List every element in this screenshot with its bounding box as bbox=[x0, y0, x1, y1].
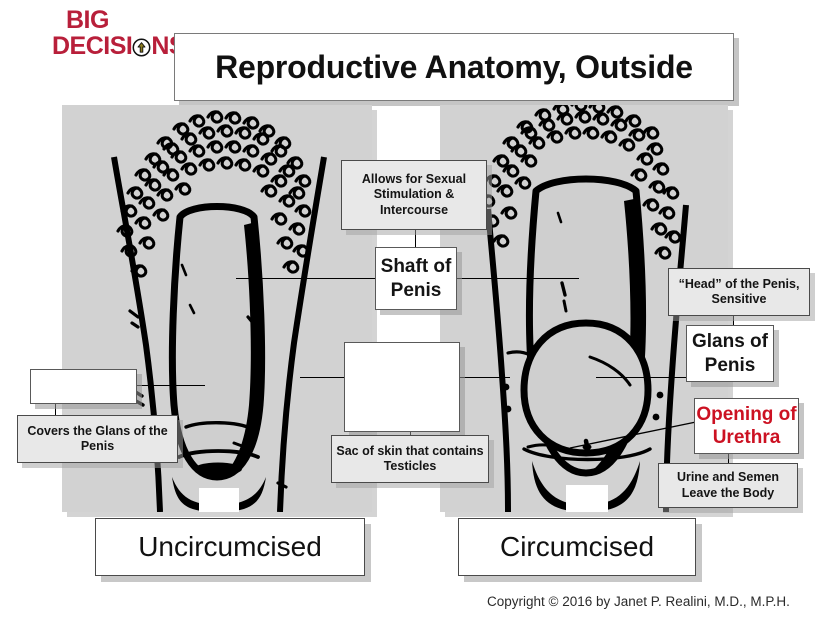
caption-circumcised-text: Circumcised bbox=[500, 531, 654, 563]
page-title-box: Reproductive Anatomy, Outside bbox=[174, 33, 734, 101]
leader-shaft-right bbox=[457, 278, 579, 279]
leader-shaft-left bbox=[236, 278, 376, 279]
label-allows-sexual-stimulation-text: Allows for Sexual Stimulation & Intercou… bbox=[342, 172, 486, 218]
label-sac-of-skin-testicles: Sac of skin that contains Testicles bbox=[331, 435, 489, 483]
label-opening-of-urethra: Opening of Urethra bbox=[694, 398, 799, 454]
logo-line-big: BIG bbox=[66, 8, 109, 33]
label-glans-of-penis: Glans of Penis bbox=[686, 325, 774, 382]
circled-up-arrow-icon bbox=[132, 37, 151, 56]
leader-scrotum-right bbox=[460, 377, 510, 378]
caption-uncircumcised-text: Uncircumcised bbox=[138, 531, 322, 563]
logo-line-decisions: DECISI NS bbox=[52, 34, 185, 59]
label-opening-of-urethra-text: Opening of Urethra bbox=[695, 403, 798, 449]
label-head-of-penis-sensitive-text: “Head” of the Penis, Sensitive bbox=[669, 277, 809, 308]
label-covers-glans-text: Covers the Glans of the Penis bbox=[18, 424, 177, 455]
label-head-of-penis-sensitive: “Head” of the Penis, Sensitive bbox=[668, 268, 810, 316]
label-covers-glans: Covers the Glans of the Penis bbox=[17, 415, 178, 463]
leader-foreskin bbox=[137, 385, 205, 386]
label-urine-semen-leave-body: Urine and Semen Leave the Body bbox=[658, 463, 798, 508]
leader-stimulation-to-shaft bbox=[415, 230, 416, 248]
answer-blank-scrotum[interactable] bbox=[344, 342, 460, 432]
leader-scrotum-left bbox=[300, 377, 345, 378]
label-allows-sexual-stimulation: Allows for Sexual Stimulation & Intercou… bbox=[341, 160, 487, 230]
big-decisions-logo: BIG DECISI NS bbox=[52, 8, 182, 70]
leader-glans bbox=[596, 377, 688, 378]
logo-text-decisi: DECISI bbox=[52, 32, 132, 60]
label-urine-semen-leave-body-text: Urine and Semen Leave the Body bbox=[659, 470, 797, 501]
label-sac-of-skin-testicles-text: Sac of skin that contains Testicles bbox=[332, 444, 488, 475]
slide-canvas: BIG DECISI NS Reproductive Anatomy, Outs… bbox=[0, 0, 828, 621]
caption-circumcised: Circumcised bbox=[458, 518, 696, 576]
label-shaft-of-penis-text: Shaft of Penis bbox=[376, 255, 456, 301]
page-title: Reproductive Anatomy, Outside bbox=[215, 49, 693, 86]
caption-uncircumcised: Uncircumcised bbox=[95, 518, 365, 576]
copyright-notice: Copyright © 2016 by Janet P. Realini, M.… bbox=[487, 594, 790, 609]
label-shaft-of-penis: Shaft of Penis bbox=[375, 247, 457, 310]
answer-blank-foreskin[interactable] bbox=[30, 369, 137, 404]
label-glans-of-penis-text: Glans of Penis bbox=[687, 330, 773, 376]
